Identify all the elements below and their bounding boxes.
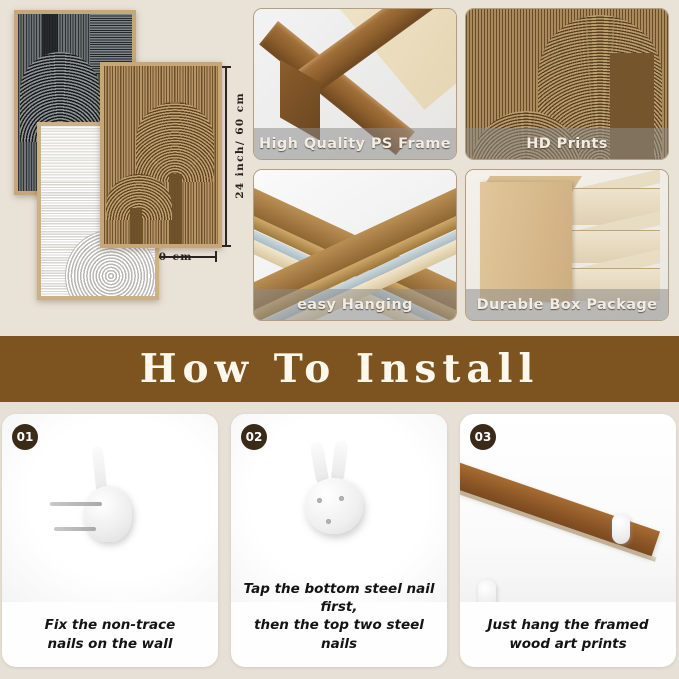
art-panel-brown [100, 62, 222, 248]
step-caption-01: Fix the non-trace nails on the wall [10, 616, 210, 653]
box-front [480, 182, 572, 302]
feature-card-easy-hanging: easy Hanging [253, 169, 457, 321]
feature-caption-0: High Quality PS Frame [259, 136, 451, 152]
feature-caption-band-2: easy Hanging [254, 289, 456, 320]
hero-product-image: 24 inch/ 60 cm 16 inch/ 40 cm [0, 0, 248, 330]
install-step-card-03: 03 Just hang the framed wood art prints [460, 414, 676, 667]
step-number-badge-01: 01 [12, 424, 38, 450]
step-caption-01-line1: Fix the non-trace [10, 616, 210, 634]
product-infographic: 24 inch/ 60 cm 16 inch/ 40 cm High Quali… [0, 0, 679, 679]
brown-pillar-left [130, 208, 142, 244]
dimension-cap-right [215, 251, 217, 262]
step-caption-03: Just hang the framed wood art prints [468, 616, 668, 653]
steel-nail-lower [54, 527, 96, 531]
feature-caption-band-0: High Quality PS Frame [254, 128, 456, 159]
feature-card-durable-box-package: Durable Box Package [465, 169, 669, 321]
how-to-install-banner: How To Install [0, 336, 679, 402]
bunny-hook-body [305, 478, 363, 534]
feature-caption-2: easy Hanging [297, 297, 413, 313]
nail-hole-top-right [339, 496, 344, 501]
wood-frame-bar [460, 459, 660, 557]
feature-card-high-quality-ps-frame: High Quality PS Frame [253, 8, 457, 160]
dimension-label-height: 24 inch/ 60 cm [234, 92, 246, 199]
nail-hole-top-left [317, 498, 322, 503]
feature-caption-band-1: HD Prints [466, 128, 668, 159]
step-caption-02-line2: then the top two steel nails [239, 616, 439, 653]
feature-caption-3: Durable Box Package [477, 297, 658, 313]
step-caption-02: Tap the bottom steel nail first, then th… [239, 580, 439, 653]
banner-title: How To Install [140, 346, 540, 392]
step-number-badge-03: 03 [470, 424, 496, 450]
bunny-ear-right-icon [330, 439, 348, 482]
step-caption-03-line2: wood art prints [468, 635, 668, 653]
feature-caption-band-3: Durable Box Package [466, 289, 668, 320]
wall-hook-left [478, 580, 496, 602]
install-step-card-01: 01 Fix the non-trace nails on the wall [2, 414, 218, 667]
feature-caption-1: HD Prints [526, 136, 607, 152]
step-caption-02-line1: Tap the bottom steel nail first, [239, 580, 439, 617]
feature-grid: High Quality PS Frame HD Prints [253, 8, 673, 322]
wall-hook-right [612, 514, 630, 544]
brown-arch-large [136, 102, 214, 182]
nail-hole-bottom [326, 519, 331, 524]
top-section: 24 inch/ 60 cm 16 inch/ 40 cm High Quali… [0, 0, 679, 330]
step-caption-03-line1: Just hang the framed [468, 616, 668, 634]
dimension-line-vertical [225, 66, 227, 246]
hook-body [84, 486, 132, 542]
step-number-badge-02: 02 [241, 424, 267, 450]
feature-card-hd-prints: HD Prints [465, 8, 669, 160]
steel-nail-upper [50, 502, 102, 506]
install-step-card-02: 02 Tap the bottom steel nail first, then… [231, 414, 447, 667]
install-steps-section: 01 Fix the non-trace nails on the wall 0… [0, 402, 679, 679]
art-panel-brown-surface [104, 66, 218, 244]
step-caption-01-line2: nails on the wall [10, 635, 210, 653]
